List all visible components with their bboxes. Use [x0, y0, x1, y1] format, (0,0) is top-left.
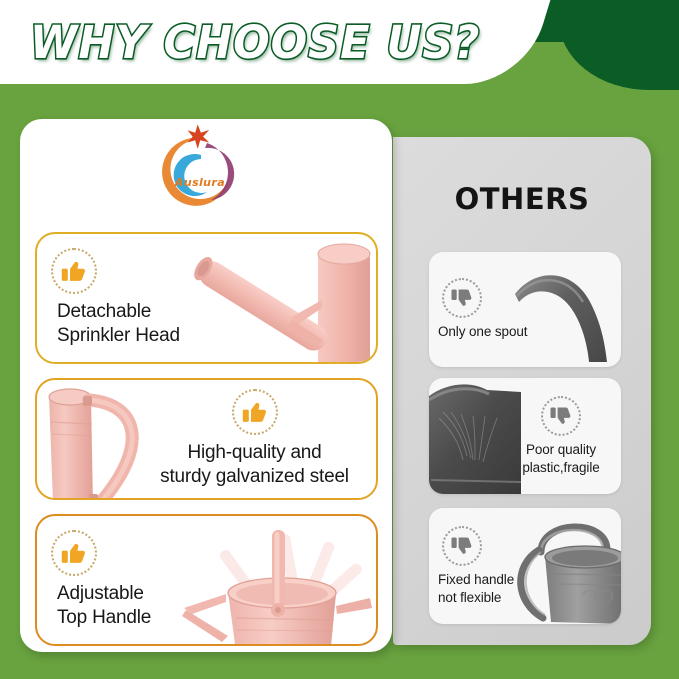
- top-dark-green-curve: [559, 0, 679, 90]
- thumbs-down-glyph: [450, 286, 474, 310]
- infographic-page: WHY CHOOSE US? Auslura: [0, 0, 679, 679]
- drawback-card-fixed-handle[interactable]: Fixed handle not flexible: [429, 508, 621, 624]
- page-title: WHY CHOOSE US?: [30, 17, 480, 70]
- drawback-text-block: Poor quality plastic,fragile: [507, 378, 615, 494]
- thumbs-up-glyph: [60, 539, 88, 567]
- others-title: OTHERS: [393, 182, 651, 216]
- feature-label: Adjustable Top Handle: [51, 582, 151, 630]
- drawback-label: Poor quality plastic,fragile: [522, 441, 599, 476]
- thumbs-down-icon: [442, 278, 482, 318]
- brand-logo: Auslura: [145, 124, 255, 212]
- thumbs-up-glyph: [60, 257, 88, 285]
- feature-label: High-quality and sturdy galvanized steel: [160, 441, 349, 489]
- thumbs-down-icon: [442, 526, 482, 566]
- header: WHY CHOOSE US?: [0, 0, 560, 86]
- thumbs-down-glyph: [450, 534, 474, 558]
- drawback-text-block: Fixed handle not flexible: [438, 508, 533, 624]
- feature-text-block: Detachable Sprinkler Head: [51, 234, 236, 362]
- thumbs-up-icon: [51, 530, 97, 576]
- feature-card-detachable-sprinkler-head[interactable]: Detachable Sprinkler Head: [35, 232, 378, 364]
- thumbs-up-icon: [51, 248, 97, 294]
- drawback-label: Only one spout: [438, 323, 527, 341]
- drawback-text-block: Only one spout: [438, 252, 533, 367]
- drawback-card-only-one-spout[interactable]: Only one spout: [429, 252, 621, 367]
- brand-name: Auslura: [145, 176, 255, 189]
- thumbs-up-icon: [232, 389, 278, 435]
- thumbs-down-glyph: [549, 404, 573, 428]
- drawback-label: Fixed handle not flexible: [438, 571, 514, 606]
- feature-label: Detachable Sprinkler Head: [51, 300, 180, 348]
- feature-text-block: Adjustable Top Handle: [51, 516, 236, 644]
- thumbs-up-glyph: [241, 398, 269, 426]
- drawback-card-poor-quality-plastic[interactable]: Poor quality plastic,fragile: [429, 378, 621, 494]
- feature-card-adjustable-top-handle[interactable]: Adjustable Top Handle: [35, 514, 378, 646]
- feature-card-galvanized-steel[interactable]: High-quality and sturdy galvanized steel: [35, 378, 378, 500]
- star-swoosh-logo-icon: [145, 124, 255, 212]
- thumbs-down-icon: [541, 396, 581, 436]
- feature-text-block: High-quality and sturdy galvanized steel: [147, 380, 362, 498]
